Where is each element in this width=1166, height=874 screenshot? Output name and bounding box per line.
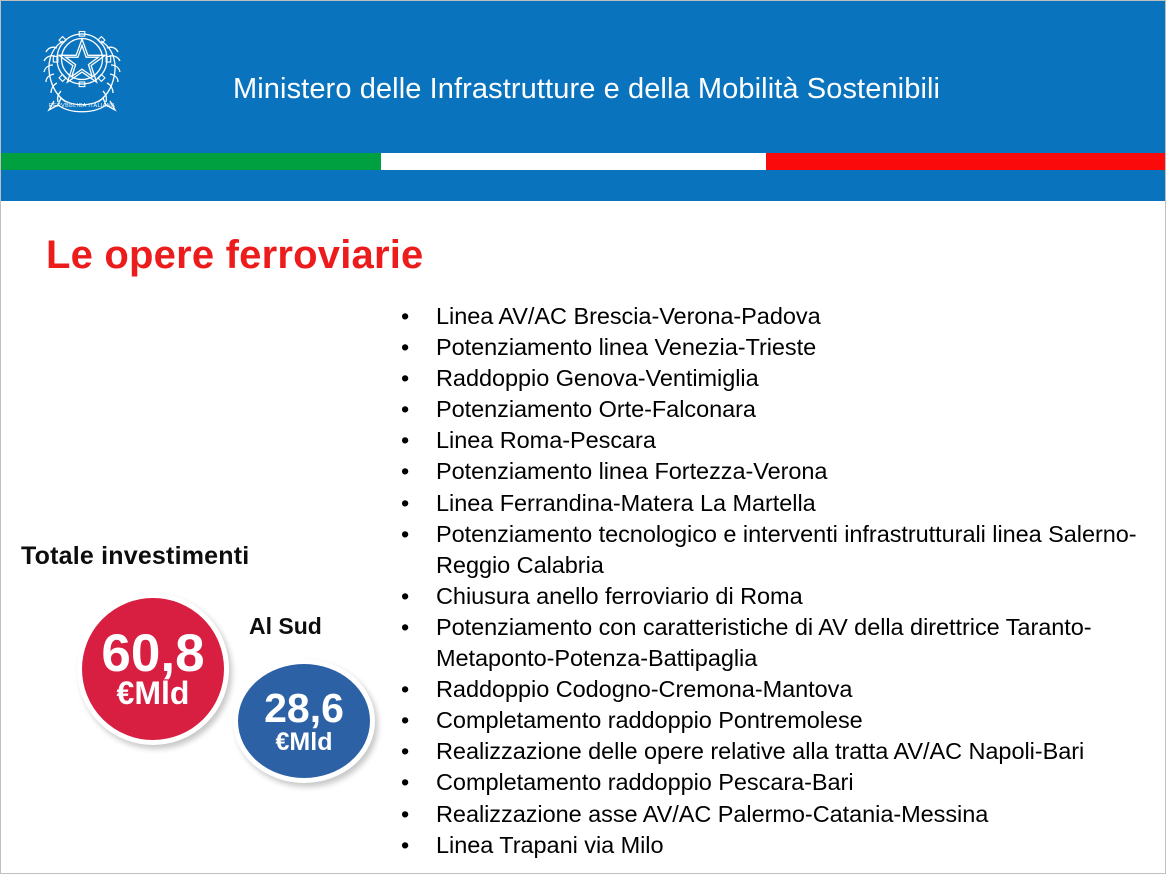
list-item-label: Raddoppio Genova-Ventimiglia xyxy=(436,365,759,391)
list-item-label: Raddoppio Codogno-Cremona-Mantova xyxy=(436,676,852,702)
list-item-label: Realizzazione delle opere relative alla … xyxy=(436,738,1084,764)
railway-works-list: •Linea AV/AC Brescia-Verona-Padova•Poten… xyxy=(397,301,1137,861)
total-investment-bubble: 60,8 €Mld xyxy=(77,593,229,745)
south-investment-bubble: 28,6 €Mld xyxy=(233,659,375,783)
bullet-icon: • xyxy=(401,363,409,394)
tricolor-red-stripe xyxy=(766,153,1166,170)
list-item: •Linea Trapani via Milo xyxy=(397,830,1137,861)
list-item-label: Realizzazione asse AV/AC Palermo-Catania… xyxy=(436,801,988,827)
bullet-icon: • xyxy=(401,799,409,830)
bullet-icon: • xyxy=(401,767,409,798)
list-item: •Raddoppio Codogno-Cremona-Mantova xyxy=(397,674,1137,705)
list-item: •Completamento raddoppio Pescara-Bari xyxy=(397,767,1137,798)
south-investment-value: 28,6 xyxy=(264,688,344,729)
list-item: •Potenziamento con caratteristiche di AV… xyxy=(397,612,1137,674)
presentation-slide: REPVBBLICA ITALIANA Ministero delle Infr… xyxy=(0,0,1166,874)
list-item-label: Potenziamento linea Fortezza-Verona xyxy=(436,458,827,484)
total-investment-unit: €Mld xyxy=(117,677,190,709)
list-item-label: Linea Trapani via Milo xyxy=(436,832,664,858)
bullet-icon: • xyxy=(401,394,409,425)
slide-header: REPVBBLICA ITALIANA Ministero delle Infr… xyxy=(1,1,1166,201)
list-item-label: Completamento raddoppio Pescara-Bari xyxy=(436,769,854,795)
tricolor-green-stripe xyxy=(1,153,381,170)
bullet-icon: • xyxy=(401,674,409,705)
list-item-label: Linea Ferrandina-Matera La Martella xyxy=(436,490,816,516)
list-item: •Potenziamento linea Venezia-Trieste xyxy=(397,332,1137,363)
list-item-label: Potenziamento con caratteristiche di AV … xyxy=(436,614,1092,671)
list-item-label: Potenziamento Orte-Falconara xyxy=(436,396,756,422)
list-item: •Potenziamento tecnologico e interventi … xyxy=(397,519,1137,581)
italian-tricolor-bar xyxy=(1,153,1166,170)
list-item: •Raddoppio Genova-Ventimiglia xyxy=(397,363,1137,394)
total-investment-value: 60,8 xyxy=(101,629,204,680)
south-investment-unit: €Mld xyxy=(276,730,333,755)
svg-text:REPVBBLICA ITALIANA: REPVBBLICA ITALIANA xyxy=(49,103,115,109)
bullet-icon: • xyxy=(401,705,409,736)
bullet-icon: • xyxy=(401,332,409,363)
total-investments-heading: Totale investimenti xyxy=(21,542,249,571)
list-item-label: Potenziamento tecnologico e interventi i… xyxy=(436,521,1137,578)
list-item: •Potenziamento linea Fortezza-Verona xyxy=(397,456,1137,487)
ministry-title: Ministero delle Infrastrutture e della M… xyxy=(233,73,940,106)
list-item: •Realizzazione asse AV/AC Palermo-Catani… xyxy=(397,799,1137,830)
list-item-label: Linea Roma-Pescara xyxy=(436,427,656,453)
list-item: •Linea Roma-Pescara xyxy=(397,425,1137,456)
list-item: •Completamento raddoppio Pontremolese xyxy=(397,705,1137,736)
south-investment-label: Al Sud xyxy=(249,613,322,640)
bullet-icon: • xyxy=(401,425,409,456)
list-item-label: Potenziamento linea Venezia-Trieste xyxy=(436,334,816,360)
list-item: •Linea Ferrandina-Matera La Martella xyxy=(397,488,1137,519)
bullet-icon: • xyxy=(401,301,409,332)
italian-republic-emblem-icon: REPVBBLICA ITALIANA xyxy=(32,15,132,119)
page-title: Le opere ferroviarie xyxy=(46,233,424,278)
bullet-icon: • xyxy=(401,488,409,519)
list-item-label: Linea AV/AC Brescia-Verona-Padova xyxy=(436,303,821,329)
bullet-icon: • xyxy=(401,612,409,643)
list-item: •Realizzazione delle opere relative alla… xyxy=(397,736,1137,767)
list-item: •Linea AV/AC Brescia-Verona-Padova xyxy=(397,301,1137,332)
bullet-icon: • xyxy=(401,456,409,487)
bullet-icon: • xyxy=(401,519,409,550)
list-item-label: Completamento raddoppio Pontremolese xyxy=(436,707,863,733)
bullet-icon: • xyxy=(401,830,409,861)
bullet-icon: • xyxy=(401,736,409,767)
list-item: •Chiusura anello ferroviario di Roma xyxy=(397,581,1137,612)
list-item: •Potenziamento Orte-Falconara xyxy=(397,394,1137,425)
list-item-label: Chiusura anello ferroviario di Roma xyxy=(436,583,803,609)
tricolor-white-stripe xyxy=(381,153,766,170)
bullet-icon: • xyxy=(401,581,409,612)
